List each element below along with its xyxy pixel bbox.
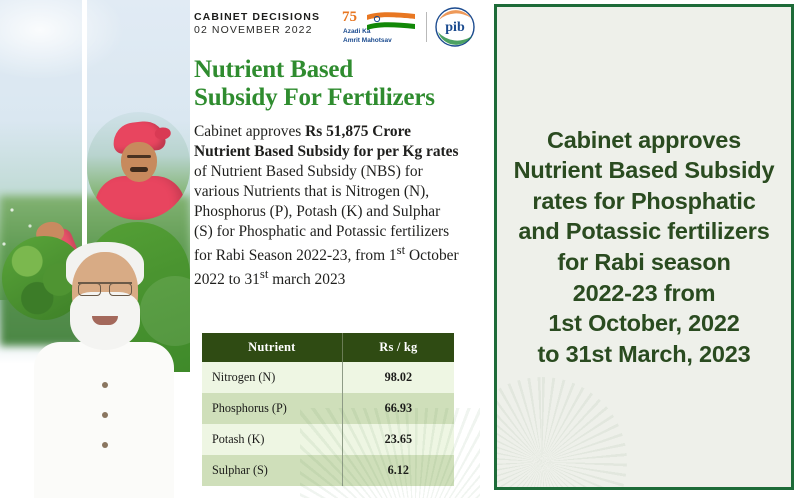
kicker: CABINET DECISIONS 02 NOVEMBER 2022 bbox=[194, 11, 320, 38]
pm-glasses-icon bbox=[78, 282, 132, 295]
body-seg-1: Cabinet approves bbox=[194, 123, 305, 140]
caption-panel: Cabinet approves Nutrient Based Subsidy … bbox=[494, 4, 794, 490]
cell-rate: 23.65 bbox=[342, 424, 454, 455]
farmer-torso bbox=[95, 176, 185, 220]
azadi-ka-amrit-mahotsav-logo: 75 Azadi Ka Amrit Mahotsav bbox=[341, 6, 419, 48]
caption-line: and Potassic fertilizers bbox=[501, 216, 787, 247]
caption-text: Cabinet approves Nutrient Based Subsidy … bbox=[501, 125, 787, 369]
body-sup-1: st bbox=[397, 243, 406, 257]
caption-line: Nutrient Based Subsidy bbox=[501, 155, 787, 186]
pm-vest-button bbox=[102, 442, 108, 448]
infographic-panel: CABINET DECISIONS 02 NOVEMBER 2022 75 Az… bbox=[190, 0, 480, 498]
title-line-2: Subsidy For Fertilizers bbox=[194, 84, 435, 111]
kicker-date: 02 NOVEMBER 2022 bbox=[194, 24, 320, 37]
amrit-75-numeral: 75 bbox=[342, 9, 357, 26]
cell-nutrient: Sulphar (S) bbox=[202, 455, 342, 486]
caption-line: rates for Phosphatic bbox=[501, 186, 787, 217]
cell-nutrient: Nitrogen (N) bbox=[202, 362, 342, 393]
amrit-line-1: Azadi Ka bbox=[343, 28, 370, 35]
body-paragraph: Cabinet approves Rs 51,875 Crore Nutrien… bbox=[194, 122, 462, 290]
screenshot-root: CABINET DECISIONS 02 NOVEMBER 2022 75 Az… bbox=[0, 0, 800, 498]
caption-watermark bbox=[494, 377, 627, 490]
kicker-title: CABINET DECISIONS bbox=[194, 11, 320, 24]
pm-vest-button bbox=[102, 412, 108, 418]
title-line-1: Nutrient Based bbox=[194, 56, 353, 83]
table-row: Nitrogen (N) 98.02 bbox=[202, 362, 454, 393]
caption-line: 2022-23 from bbox=[501, 278, 787, 309]
logo-separator bbox=[426, 12, 427, 42]
prime-minister-portrait-photo bbox=[16, 230, 188, 498]
photo-collage bbox=[0, 0, 190, 498]
table-row: Sulphar (S) 6.12 bbox=[202, 455, 454, 486]
column-header-nutrient: Nutrient bbox=[202, 333, 342, 362]
table-row: Potash (K) 23.65 bbox=[202, 424, 454, 455]
table-header-row: Nutrient Rs / kg bbox=[202, 333, 454, 362]
cell-rate: 6.12 bbox=[342, 455, 454, 486]
farmer-face bbox=[121, 142, 157, 182]
nutrient-rate-table: Nutrient Rs / kg Nitrogen (N) 98.02 Phos… bbox=[202, 333, 454, 486]
logo-group: 75 Azadi Ka Amrit Mahotsav pib bbox=[341, 4, 476, 50]
cell-nutrient: Potash (K) bbox=[202, 424, 342, 455]
cell-rate: 66.93 bbox=[342, 393, 454, 424]
farmer-portrait-photo bbox=[87, 112, 190, 220]
pib-logo-icon: pib bbox=[434, 6, 476, 48]
body-seg-5: march 2023 bbox=[268, 271, 345, 288]
page-title: Nutrient Based Subsidy For Fertilizers bbox=[194, 56, 476, 113]
column-header-rate: Rs / kg bbox=[342, 333, 454, 362]
caption-line: to 31st March, 2023 bbox=[501, 339, 787, 370]
caption-line: Cabinet approves bbox=[501, 125, 787, 156]
amrit-line-2: Amrit Mahotsav bbox=[343, 37, 392, 44]
indian-flag-icon bbox=[365, 10, 417, 36]
table-row: Phosphorus (P) 66.93 bbox=[202, 393, 454, 424]
caption-line: 1st October, 2022 bbox=[501, 308, 787, 339]
caption-line: for Rabi season bbox=[501, 247, 787, 278]
svg-text:pib: pib bbox=[445, 20, 465, 35]
cell-rate: 98.02 bbox=[342, 362, 454, 393]
pm-vest-button bbox=[102, 382, 108, 388]
cell-nutrient: Phosphorus (P) bbox=[202, 393, 342, 424]
